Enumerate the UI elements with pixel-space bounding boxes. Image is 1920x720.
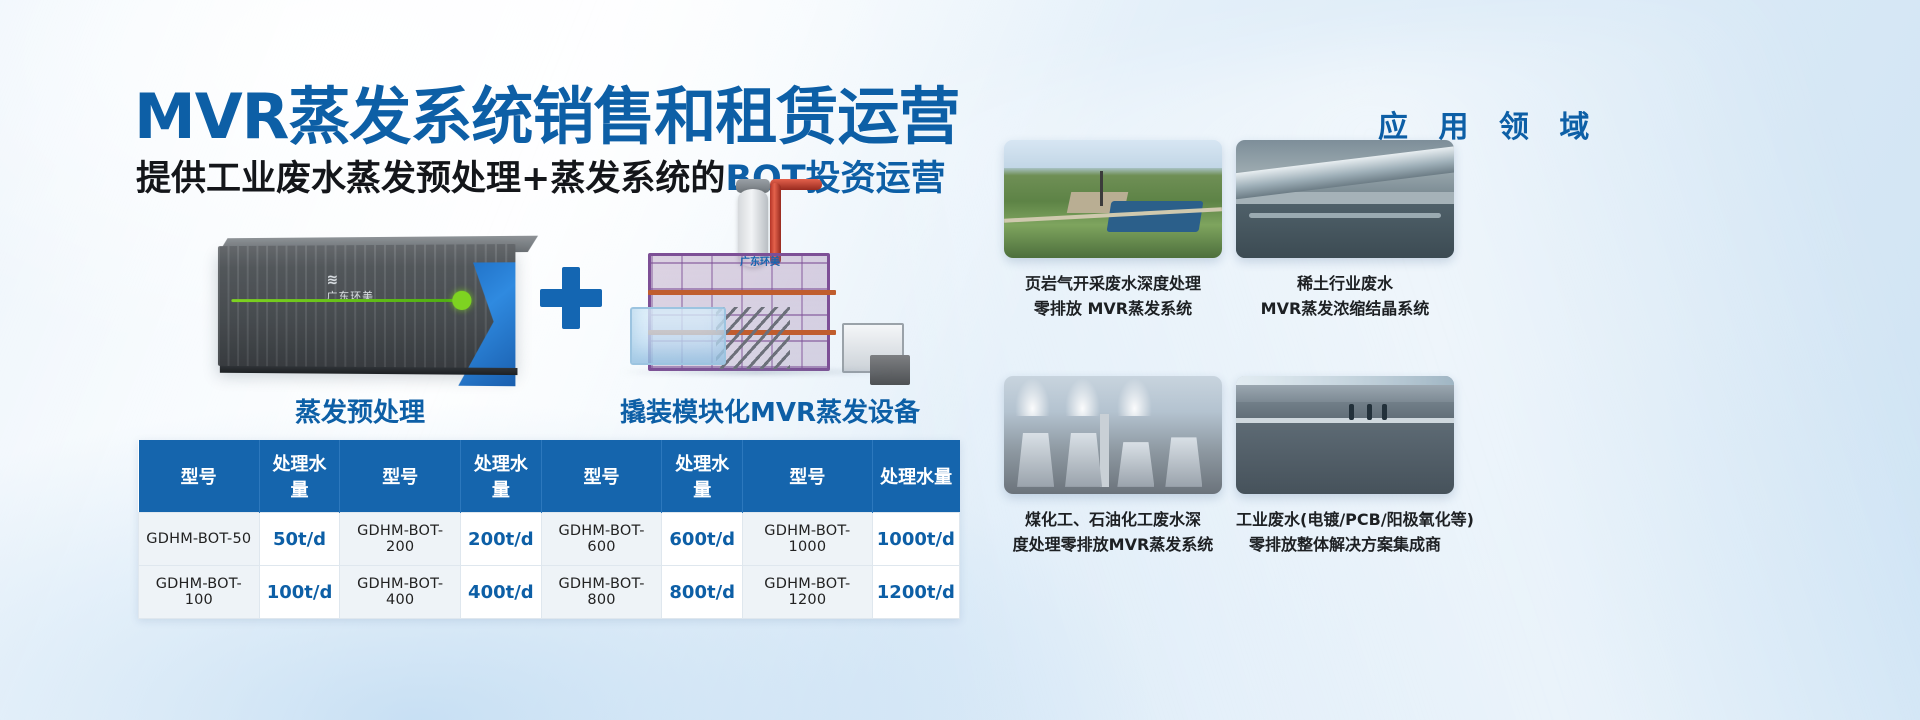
skid-stairs: [716, 307, 790, 369]
cell-capacity: 1200t/d: [872, 566, 959, 619]
col-header-model-2: 型号: [340, 440, 461, 513]
col-header-model-3: 型号: [541, 440, 662, 513]
application-card-industrial-wastewater[interactable]: 工业废水(电镀/PCB/阳极氧化等) 零排放整体解决方案集成商: [1236, 376, 1454, 558]
cell-capacity: 1000t/d: [872, 513, 959, 566]
caption-line-2: 度处理零排放MVR蒸发系统: [1004, 533, 1222, 558]
skid-brand-logo: 广东环美: [740, 253, 780, 268]
caption-evaporation-pretreatment: 蒸发预处理: [295, 392, 425, 429]
cell-model: GDHM-BOT-100: [139, 566, 260, 619]
table-row: GDHM-BOT-100 100t/d GDHM-BOT-400 400t/d …: [139, 566, 960, 619]
col-header-capacity-2: 处理水量: [461, 440, 542, 513]
walkway-rail: [1236, 418, 1454, 423]
cell-capacity: 50t/d: [259, 513, 340, 566]
skid-ground-shadow: [620, 369, 892, 375]
cell-model: GDHM-BOT-200: [340, 513, 461, 566]
water-channel: [1236, 204, 1454, 258]
container-green-indicator: [452, 291, 471, 310]
application-card-caption: 煤化工、石油化工废水深 度处理零排放MVR蒸发系统: [1004, 508, 1222, 558]
shale-gas-field-image: [1004, 140, 1222, 258]
container-base: [220, 366, 518, 375]
cell-capacity: 200t/d: [461, 513, 542, 566]
col-header-capacity-3: 处理水量: [662, 440, 743, 513]
application-card-caption: 稀土行业废水 MVR蒸发浓缩结晶系统: [1236, 272, 1454, 322]
container-ribs-texture: [218, 244, 515, 368]
cell-model: GDHM-BOT-400: [340, 566, 461, 619]
plus-icon: [540, 267, 602, 329]
chimney-stack: [1100, 414, 1109, 487]
caption-line-2: 零排放整体解决方案集成商: [1236, 533, 1454, 558]
retention-pond: [1106, 201, 1202, 232]
caption-line-2: MVR蒸发浓缩结晶系统: [1236, 297, 1454, 322]
container-green-accent-line: [231, 299, 460, 302]
skid-clear-tank: [630, 307, 726, 365]
application-card-caption: 页岩气开采废水深度处理 零排放 MVR蒸发系统: [1004, 272, 1222, 322]
table-row: GDHM-BOT-50 50t/d GDHM-BOT-200 200t/d GD…: [139, 513, 960, 566]
application-card-coal-chemical[interactable]: 煤化工、石油化工废水深 度处理零排放MVR蒸发系统: [1004, 376, 1222, 558]
worker-figure: [1367, 404, 1372, 420]
product-illustration-row: ≋广东环美 广东环美: [150, 205, 970, 405]
industrial-wastewater-basin-image: [1236, 376, 1454, 494]
drilling-rig: [1100, 171, 1103, 206]
page-title: MVR蒸发系统销售和租赁运营: [134, 66, 959, 156]
worker-figure: [1349, 404, 1354, 420]
worker-figure: [1382, 404, 1387, 420]
col-header-model-4: 型号: [743, 440, 873, 513]
cell-capacity: 400t/d: [461, 566, 542, 619]
cell-capacity: 800t/d: [662, 566, 743, 619]
table-header-row: 型号 处理水量 型号 处理水量 型号 处理水量 型号 处理水量: [139, 440, 960, 513]
skid-mounted-mvr-unit-image: 广东环美: [620, 191, 910, 401]
cell-model: GDHM-BOT-600: [541, 513, 662, 566]
cooling-tower: [1017, 433, 1054, 487]
sky-band: [1004, 140, 1222, 168]
caption-skid-mvr-equipment: 撬装模块化MVR蒸发设备: [620, 392, 920, 429]
smoke-plume: [1015, 378, 1050, 416]
application-areas-column: 应 用 领 域 页岩气开采废水深度处理 零排放 MVR蒸发系统: [1000, 0, 1920, 720]
application-card-rare-earth[interactable]: 稀土行业废水 MVR蒸发浓缩结晶系统: [1236, 140, 1454, 322]
caption-line-1: 稀土行业废水: [1236, 272, 1454, 297]
treatment-basin-lane: [1236, 376, 1454, 385]
cell-model: GDHM-BOT-1000: [743, 513, 873, 566]
evaporation-pretreatment-unit-image: ≋广东环美: [212, 225, 550, 388]
left-content-column: MVR蒸发系统销售和租赁运营 提供工业废水蒸发预处理+蒸发系统的BOT投资运营 …: [0, 0, 1000, 720]
cooling-tower: [1065, 433, 1102, 487]
cooling-tower: [1117, 442, 1154, 487]
water-flow-highlight: [1249, 213, 1441, 218]
application-card-caption: 工业废水(电镀/PCB/阳极氧化等) 零排放整体解决方案集成商: [1236, 508, 1454, 558]
col-header-capacity-4: 处理水量: [872, 440, 959, 513]
caption-line-1: 煤化工、石油化工废水深: [1004, 508, 1222, 533]
cell-model: GDHM-BOT-50: [139, 513, 260, 566]
smoke-plume: [1065, 378, 1100, 416]
skid-beam-1: [648, 290, 836, 295]
cell-capacity: 600t/d: [662, 513, 743, 566]
cell-capacity: 100t/d: [259, 566, 340, 619]
caption-line-2: 零排放 MVR蒸发系统: [1004, 297, 1222, 322]
cell-model: GDHM-BOT-1200: [743, 566, 873, 619]
container-body: ≋广东环美: [218, 244, 515, 368]
rare-earth-pipe-image: [1236, 140, 1454, 258]
caption-line-1: 页岩气开采废水深度处理: [1004, 272, 1222, 297]
col-header-capacity-1: 处理水量: [259, 440, 340, 513]
specification-table: 型号 处理水量 型号 处理水量 型号 处理水量 型号 处理水量 GDHM-BOT…: [138, 440, 960, 619]
col-header-model-1: 型号: [139, 440, 260, 513]
caption-line-1: 工业废水(电镀/PCB/阳极氧化等): [1236, 508, 1454, 533]
cooling-tower: [1165, 437, 1202, 487]
cell-model: GDHM-BOT-800: [541, 566, 662, 619]
application-card-shale-gas[interactable]: 页岩气开采废水深度处理 零排放 MVR蒸发系统: [1004, 140, 1222, 322]
smoke-plume: [1117, 378, 1152, 416]
coal-chemical-plant-image: [1004, 376, 1222, 494]
